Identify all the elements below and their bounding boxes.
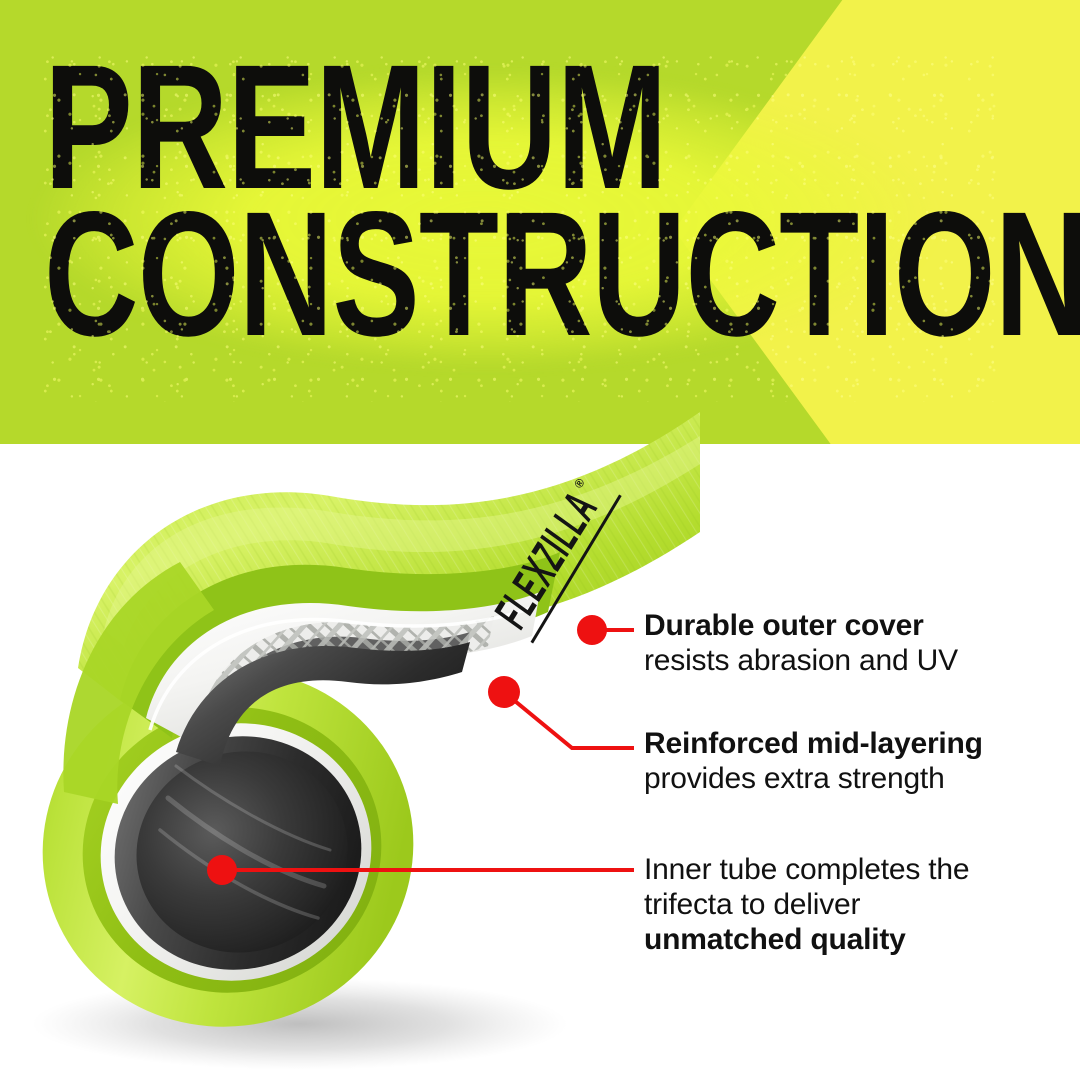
callout-mid-layer: Reinforced mid-layering provides extra s… — [644, 726, 983, 796]
leader-dot-mid-layer — [488, 676, 520, 708]
callout-inner-tube-body-2: trifecta to deliver — [644, 887, 969, 922]
callout-outer-cover-body: resists abrasion and UV — [644, 643, 958, 678]
leader-dot-outer-cover — [577, 615, 607, 645]
callout-inner-tube-emphasis: unmatched quality — [644, 922, 969, 957]
callout-outer-cover-title: Durable outer cover — [644, 608, 958, 643]
callout-mid-layer-body: provides extra strength — [644, 761, 983, 796]
callout-mid-layer-title: Reinforced mid-layering — [644, 726, 983, 761]
callout-inner-tube: Inner tube completes the trifecta to del… — [644, 852, 969, 957]
infographic-root: PREMIUM CONSTRUCTION — [0, 0, 1080, 1080]
callout-inner-tube-body-1: Inner tube completes the — [644, 852, 969, 887]
leader-line-mid-layer — [504, 692, 634, 748]
leader-dot-inner-tube — [207, 855, 237, 885]
callout-outer-cover: Durable outer cover resists abrasion and… — [644, 608, 958, 678]
